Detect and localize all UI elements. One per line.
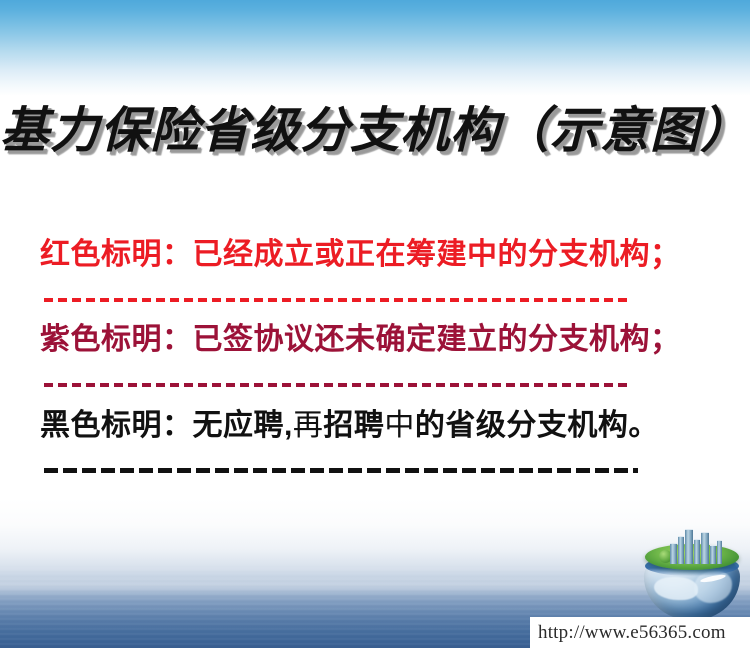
legend-purple-body-part2: 还未确定建立的分支机构； <box>315 323 681 356</box>
legend-black-lead: 黑色标明： <box>40 409 193 442</box>
legend-black-body-part3: 的省级分支机构。 <box>415 409 659 442</box>
building-6 <box>710 545 716 564</box>
building-1 <box>670 543 677 564</box>
spacer-after-red-divider <box>40 302 710 321</box>
divider-black <box>40 467 710 473</box>
divider-black-rule <box>44 468 638 473</box>
legend-black-body-part1: 无应聘, <box>193 409 293 442</box>
legend-red-lead: 红色标明： <box>40 238 193 271</box>
building-5 <box>701 532 709 564</box>
spacer-black <box>40 445 710 467</box>
slide-canvas: 基力保险省级分支机构（示意图） 红色标明：已经成立或正在筹建中的分支机构； 紫色… <box>0 0 750 648</box>
spacer-after-purple-divider <box>40 387 710 407</box>
spacer-purple <box>40 359 710 381</box>
divider-red <box>40 296 710 302</box>
legend-purple-body-part1: 已签协议 <box>193 323 315 356</box>
legend-line-purple: 紫色标明：已签协议还未确定建立的分支机构； <box>40 321 710 359</box>
globe-city-logo-icon <box>640 528 744 624</box>
watermark-bar: http://www.e56365.com <box>530 617 750 648</box>
building-7 <box>717 540 722 564</box>
sky-gradient-background <box>0 0 750 96</box>
city-skyline-icon <box>670 528 722 564</box>
divider-purple-rule <box>44 383 627 387</box>
divider-red-rule <box>44 298 627 302</box>
spacer-red <box>40 274 710 296</box>
legend-black-body-part2: 招聘 <box>323 409 384 442</box>
legend-red-body: 已经成立或正在筹建中的分支机构； <box>193 238 681 271</box>
legend-black-body-thin2: 中 <box>384 409 415 442</box>
slide-title: 基力保险省级分支机构（示意图） <box>0 100 750 162</box>
legend-line-red: 红色标明：已经成立或正在筹建中的分支机构； <box>40 236 710 274</box>
divider-purple <box>40 381 710 387</box>
watermark-url: http://www.e56365.com <box>538 622 726 644</box>
legend-purple-lead: 紫色标明： <box>40 323 193 356</box>
water-horizon-glint <box>0 574 750 596</box>
legend-black-body-thin1: 再 <box>293 409 324 442</box>
building-4 <box>694 539 700 564</box>
legend-line-black: 黑色标明：无应聘,再招聘中的省级分支机构。 <box>40 407 710 445</box>
building-3 <box>685 529 693 564</box>
legend-block: 红色标明：已经成立或正在筹建中的分支机构； 紫色标明：已签协议还未确定建立的分支… <box>40 236 710 473</box>
building-2 <box>678 536 684 564</box>
